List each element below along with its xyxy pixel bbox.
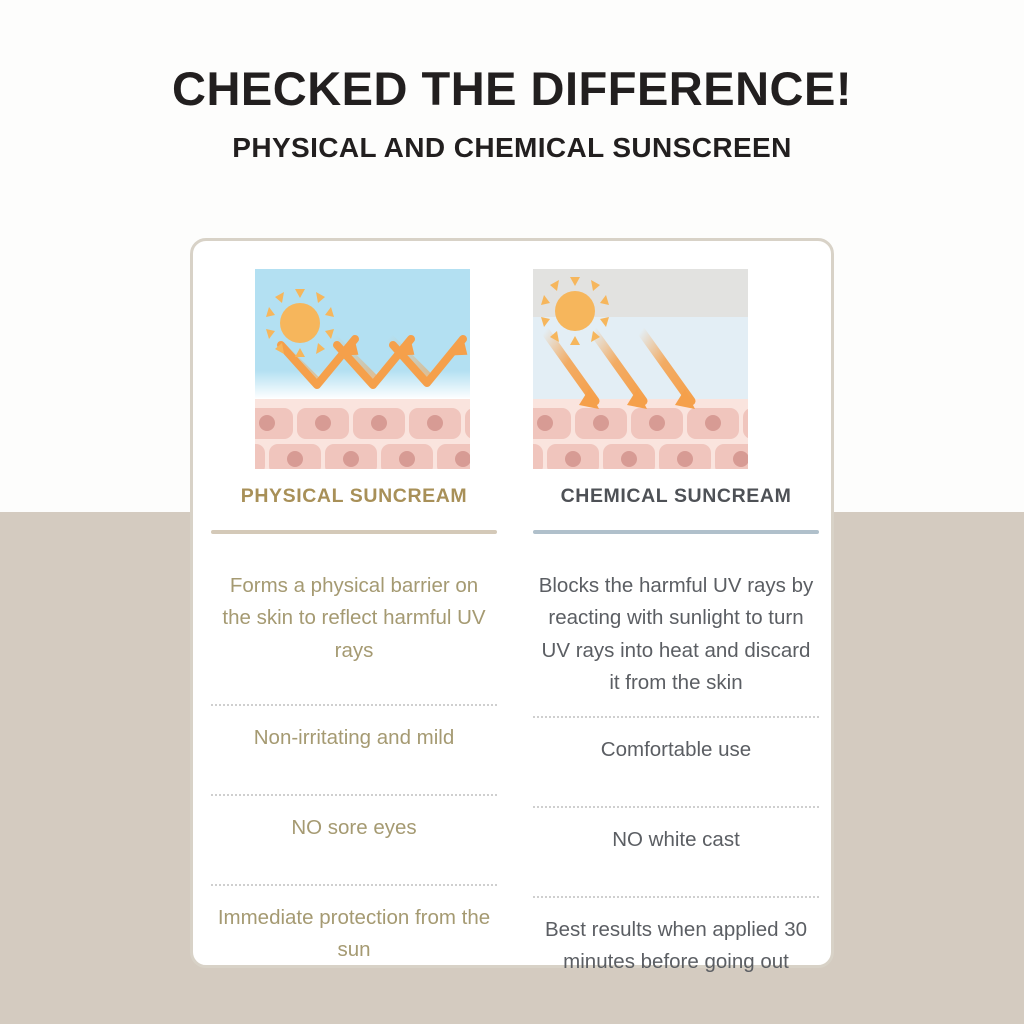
column-chemical: CHEMICAL SUNCREAM Blocks the harmful UV …	[515, 485, 837, 1002]
heading-rule-physical	[211, 530, 497, 534]
comparison-table: PHYSICAL SUNCREAM Forms a physical barri…	[193, 485, 837, 1002]
feature-chemical-2: NO white cast	[533, 808, 819, 896]
feature-physical-3: Immediate protection from the sun	[211, 886, 497, 990]
page-title: CHECKED THE DIFFERENCE!	[0, 64, 1024, 115]
column-heading-physical: PHYSICAL SUNCREAM	[211, 485, 497, 530]
feature-physical-2: NO sore eyes	[211, 796, 497, 884]
feature-chemical-1: Comfortable use	[533, 718, 819, 806]
column-heading-chemical: CHEMICAL SUNCREAM	[533, 485, 819, 530]
chemical-sunscreen-illustration	[533, 269, 748, 469]
feature-chemical-3: Best results when applied 30 minutes bef…	[533, 898, 819, 1002]
feature-physical-1: Non-irritating and mild	[211, 706, 497, 794]
heading-rule-chemical	[533, 530, 819, 534]
page-subtitle: PHYSICAL AND CHEMICAL SUNSCREEN	[0, 133, 1024, 164]
feature-physical-0: Forms a physical barrier on the skin to …	[211, 554, 497, 704]
feature-chemical-0: Blocks the harmful UV rays by reacting w…	[533, 554, 819, 716]
column-physical: PHYSICAL SUNCREAM Forms a physical barri…	[193, 485, 515, 1002]
comparison-card: PHYSICAL SUNCREAM Forms a physical barri…	[190, 238, 834, 968]
headline-block: CHECKED THE DIFFERENCE! PHYSICAL AND CHE…	[0, 64, 1024, 164]
physical-sunscreen-illustration	[255, 269, 470, 469]
illustration-row	[193, 241, 837, 469]
